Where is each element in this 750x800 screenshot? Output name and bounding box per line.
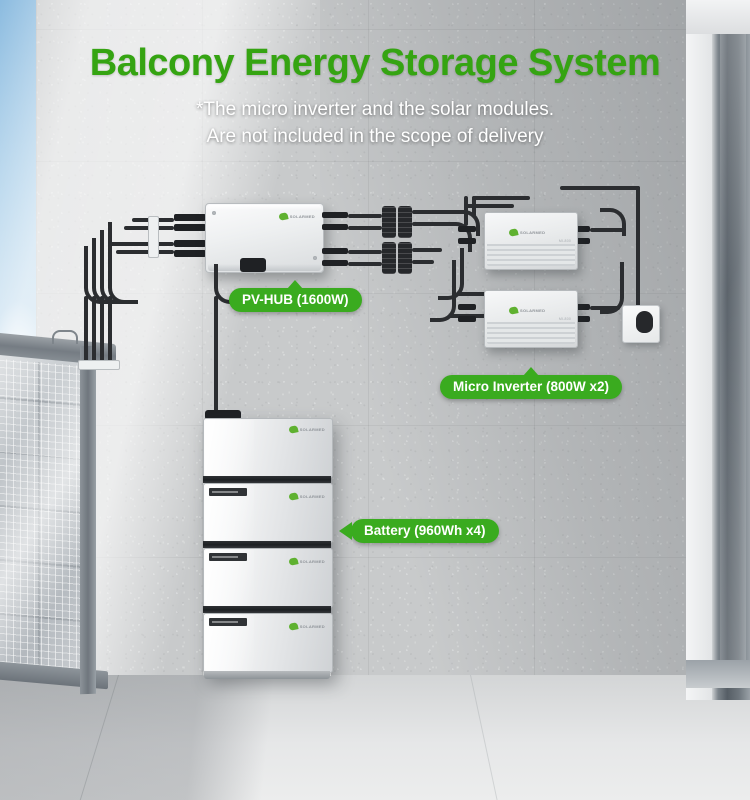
- module-label-tag: [209, 553, 247, 561]
- cable-run: [412, 222, 450, 226]
- mc4-connector: [174, 250, 206, 257]
- brand-name: SOLARMED: [300, 559, 325, 564]
- leaf-icon: [288, 557, 298, 566]
- module-seam: [203, 541, 331, 548]
- connector-block: [382, 242, 396, 274]
- module-seam: [203, 476, 331, 483]
- cable-left: [84, 296, 88, 366]
- cable-run: [348, 226, 382, 230]
- cable-bend: [108, 222, 138, 304]
- callout-pointer-icon: [523, 367, 539, 376]
- heatsink-fins: [487, 322, 575, 344]
- cable-clip: [148, 216, 159, 258]
- battery-module-3: SOLARMED: [203, 548, 333, 608]
- mc4-connector: [174, 224, 206, 231]
- cable-to-battery: [214, 296, 218, 414]
- subtitle-note: *The micro inverter and the solar module…: [0, 96, 750, 150]
- panel-glass-reflection: [0, 354, 84, 680]
- pv-hub-top-edge: [208, 205, 321, 210]
- subtitle-line-1: *The micro inverter and the solar module…: [0, 96, 750, 123]
- cable-left: [100, 296, 104, 366]
- leaf-icon: [508, 306, 518, 315]
- balcony-floor: [0, 675, 750, 800]
- mc4-connector: [322, 224, 348, 230]
- leaf-icon: [278, 212, 288, 221]
- cable-bend: [600, 262, 624, 314]
- cable-run: [472, 196, 530, 200]
- cable-run: [348, 262, 382, 266]
- brand-logo: SOLARMED: [509, 307, 545, 314]
- callout-pv-hub-label: PV-HUB (1600W): [242, 292, 349, 307]
- brand-name: SOLARMED: [300, 494, 325, 499]
- inverter-model-label: MI-800: [559, 317, 571, 321]
- connector-block: [398, 242, 412, 274]
- callout-battery-label: Battery (960Wh x4): [364, 523, 486, 538]
- brand-logo: SOLARMED: [289, 493, 325, 500]
- battery-highlight: [205, 420, 254, 476]
- brand-name: SOLARMED: [520, 230, 545, 235]
- battery-base: [204, 671, 330, 679]
- door-sill: [686, 660, 750, 688]
- mc4-connector: [174, 214, 206, 221]
- page-title: Balcony Energy Storage System: [0, 42, 750, 85]
- brand-logo: SOLARMED: [289, 558, 325, 565]
- module-label-tag: [209, 488, 247, 496]
- brand-name: SOLARMED: [300, 624, 325, 629]
- brand-name: SOLARMED: [290, 214, 315, 219]
- mc4-connector: [322, 212, 348, 218]
- leaf-icon: [508, 228, 518, 237]
- callout-micro-inverter-label: Micro Inverter (800W x2): [453, 379, 609, 394]
- cable-clip: [78, 360, 120, 370]
- mc4-connector: [458, 238, 476, 244]
- balcony-energy-storage-infographic: SOLARMED SOL: [0, 0, 750, 800]
- cable-to-socket: [560, 186, 640, 190]
- cable-run: [108, 242, 174, 246]
- brand-logo: SOLARMED: [289, 623, 325, 630]
- battery-module-2: SOLARMED: [203, 483, 333, 543]
- inverter-model-label: MI-800: [559, 239, 571, 243]
- cable-run: [116, 250, 174, 254]
- connector-block: [382, 206, 396, 238]
- module-seam: [203, 606, 331, 613]
- cable-run: [348, 214, 382, 218]
- floor-tile-line: [470, 675, 498, 800]
- callout-pointer-icon: [287, 280, 303, 289]
- callout-battery: Battery (960Wh x4): [351, 519, 499, 543]
- battery-module-4: SOLARMED: [203, 613, 333, 673]
- power-plug-icon: [636, 311, 653, 333]
- mc4-connector: [458, 304, 476, 310]
- door-header: [686, 0, 750, 34]
- micro-inverter-2: SOLARMED MI-800: [484, 290, 578, 348]
- cable-left: [92, 296, 96, 366]
- railing-handle: [52, 330, 78, 344]
- balcony-railing: [0, 338, 110, 698]
- mc4-connector: [322, 260, 348, 266]
- cable-left: [108, 296, 112, 366]
- battery-stack: SOLARMED SOLARMED SOLARMED: [203, 418, 331, 676]
- callout-micro-inverter: Micro Inverter (800W x2): [440, 375, 622, 399]
- cable-run: [412, 210, 458, 214]
- brand-name: SOLARMED: [520, 308, 545, 313]
- brand-logo: SOLARMED: [279, 213, 315, 220]
- mc4-connector: [458, 226, 476, 232]
- pv-hub-screw: [313, 256, 317, 260]
- brand-logo: SOLARMED: [289, 426, 325, 433]
- subtitle-line-2: Are not included in the scope of deliver…: [0, 123, 750, 150]
- brand-name: SOLARMED: [300, 427, 325, 432]
- mc4-connector: [174, 240, 206, 247]
- callout-pv-hub: PV-HUB (1600W): [229, 288, 362, 312]
- mc4-connector: [458, 316, 476, 322]
- railing-post: [80, 346, 96, 695]
- cable-run: [348, 250, 382, 254]
- leaf-icon: [288, 492, 298, 501]
- callout-pointer-icon: [339, 522, 352, 540]
- pv-hub-screw: [212, 211, 216, 215]
- connector-block: [398, 206, 412, 238]
- module-label-tag: [209, 618, 247, 626]
- leaf-icon: [288, 622, 298, 631]
- heatsink-fins: [487, 244, 575, 266]
- solar-panel-icon: [0, 354, 84, 680]
- cable-bend: [430, 260, 456, 322]
- micro-inverter-1: SOLARMED MI-800: [484, 212, 578, 270]
- cable-run: [464, 196, 468, 226]
- leaf-icon: [288, 425, 298, 434]
- brand-logo: SOLARMED: [509, 229, 545, 236]
- cable-run: [456, 292, 486, 296]
- cable-to-socket: [636, 186, 640, 308]
- mc4-connector: [322, 248, 348, 254]
- battery-module-1: SOLARMED: [203, 418, 333, 478]
- cable-run: [464, 204, 514, 208]
